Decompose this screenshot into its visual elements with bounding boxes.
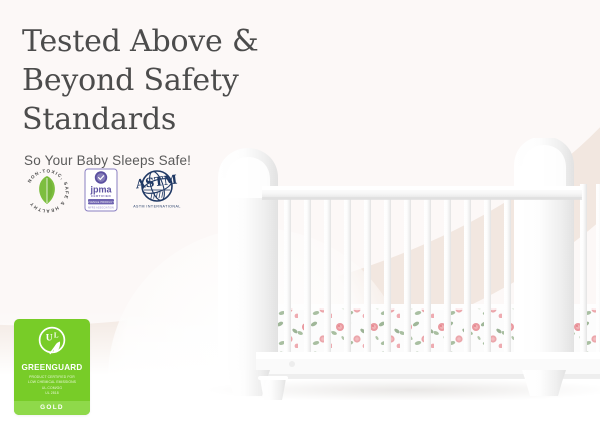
greenguard-level: GOLD	[14, 401, 90, 415]
svg-text:JUVENILE PRODUCTS: JUVENILE PRODUCTS	[86, 201, 116, 204]
greenguard-title: GREENGUARD	[14, 362, 90, 375]
badge-astm: ASTM ///// ASTM INTERNATIONAL	[130, 168, 184, 212]
jpma-seal-icon	[95, 171, 107, 183]
jpma-wordmark: jpma	[89, 185, 112, 195]
svg-text://///: /////	[150, 190, 165, 201]
banner-stage: Tested Above & Beyond Safety Standards S…	[0, 0, 600, 429]
jpma-sub: CERTIFIED	[91, 194, 112, 198]
badge-jpma: jpma CERTIFIED JUVENILE PRODUCTS MFRS AS…	[84, 168, 118, 212]
badge-greenguard-gold: U L GREENGUARD PRODUCT CERTIFIED FOR LOW…	[14, 319, 90, 415]
astm-globe-icon: ASTM /////	[134, 170, 179, 202]
astm-caption: ASTM INTERNATIONAL	[133, 205, 181, 209]
greenguard-fine-print: PRODUCT CERTIFIED FOR LOW CHEMICAL EMISS…	[14, 375, 90, 401]
svg-text:U: U	[46, 333, 53, 343]
ul-leaf-icon: U L	[14, 319, 90, 362]
certification-badge-row: NON-TOXIC, SAFE & HEALTHY jpma CER	[22, 166, 184, 214]
copy-block: Tested Above & Beyond Safety Standards S…	[22, 22, 322, 168]
badge-non-toxic: NON-TOXIC, SAFE & HEALTHY	[22, 166, 72, 214]
crib-illustration	[196, 138, 600, 400]
page-title: Tested Above & Beyond Safety Standards	[22, 22, 322, 139]
svg-text:L: L	[54, 331, 59, 339]
svg-text:MFRS ASSOCIATION: MFRS ASSOCIATION	[88, 207, 114, 210]
leaf-icon	[39, 176, 55, 204]
